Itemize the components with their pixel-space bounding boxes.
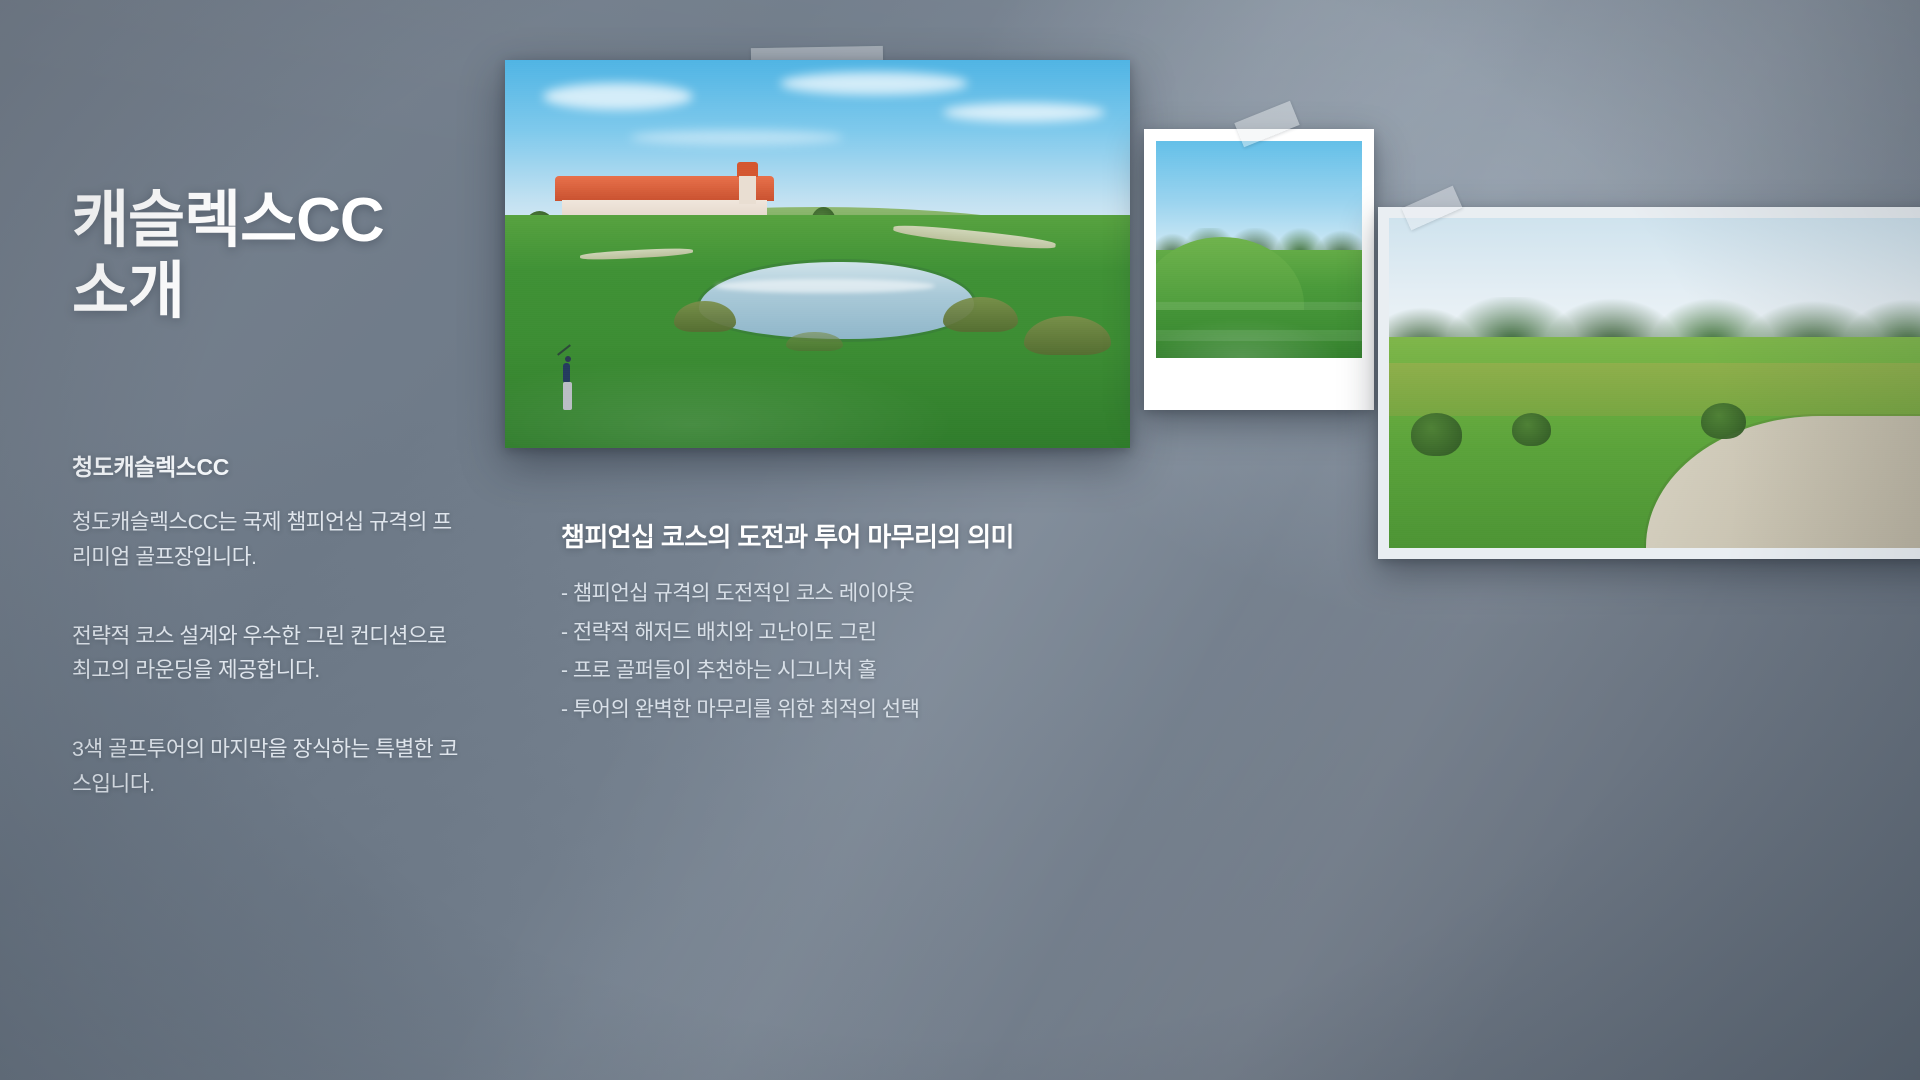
bush xyxy=(1411,413,1461,456)
page-title: 캐슬렉스CC 소개 xyxy=(72,186,472,327)
mow-stripe xyxy=(1156,302,1362,311)
scene-green-slope xyxy=(1156,141,1362,358)
rough-grass xyxy=(1389,363,1920,416)
cloud xyxy=(780,72,968,95)
right-column-heading: 챔피언십 코스의 도전과 투어 마무리의 의미 xyxy=(561,517,1014,554)
photo-green-slope xyxy=(1156,141,1362,358)
photo-clubhouse-lake-fairway[interactable] xyxy=(505,60,1130,448)
photo-frame-cart-path[interactable] xyxy=(1378,207,1920,559)
scene-clubhouse xyxy=(505,60,1130,448)
left-subtitle: 청도캐슬렉스CC xyxy=(72,448,482,482)
photo-frame-green-slope[interactable] xyxy=(1144,129,1374,410)
left-body-text: 청도캐슬렉스CC는 국제 챔피언십 규격의 프리미엄 골프장입니다. 전략적 코… xyxy=(72,505,464,802)
bush xyxy=(1512,413,1551,446)
bullet-item: - 투어의 완벽한 마무리를 위한 최적의 선택 xyxy=(561,694,919,727)
tower-roof xyxy=(737,162,759,177)
right-column-bullet-list: - 챔피언십 규격의 도전적인 코스 레이아웃 - 전략적 해저드 배치와 고난… xyxy=(561,578,919,732)
mow-stripe xyxy=(1156,330,1362,341)
tower-wall xyxy=(739,176,756,204)
bush xyxy=(1701,403,1746,439)
left-paragraph-2: 전략적 코스 설계와 우수한 그린 컨디션으로 최고의 라운딩을 제공합니다. xyxy=(72,619,464,689)
clubhouse-tower xyxy=(737,162,759,203)
cloud xyxy=(943,103,1106,122)
left-text-column: 캐슬렉스CC 소개 xyxy=(72,186,472,327)
bullet-item: - 전략적 해저드 배치와 고난이도 그린 xyxy=(561,617,919,650)
photo-cart-path-meadow xyxy=(1389,218,1920,548)
reeds xyxy=(786,332,842,351)
bullet-item: - 프로 골퍼들이 추천하는 시그니처 홀 xyxy=(561,655,919,688)
bullet-item: - 챔피언십 규격의 도전적인 코스 레이아웃 xyxy=(561,578,919,611)
slide-root: 캐슬렉스CC 소개 청도캐슬렉스CC 청도캐슬렉스CC는 국제 챔피언십 규격의… xyxy=(0,0,1920,1080)
left-paragraph-1: 청도캐슬렉스CC는 국제 챔피언십 규격의 프리미엄 골프장입니다. xyxy=(72,505,464,575)
left-paragraph-3: 3색 골프투어의 마지막을 장식하는 특별한 코스입니다. xyxy=(72,732,464,802)
golfer-legs xyxy=(563,382,572,410)
scene-cart-path xyxy=(1389,218,1920,548)
golfer-torso xyxy=(563,363,570,382)
